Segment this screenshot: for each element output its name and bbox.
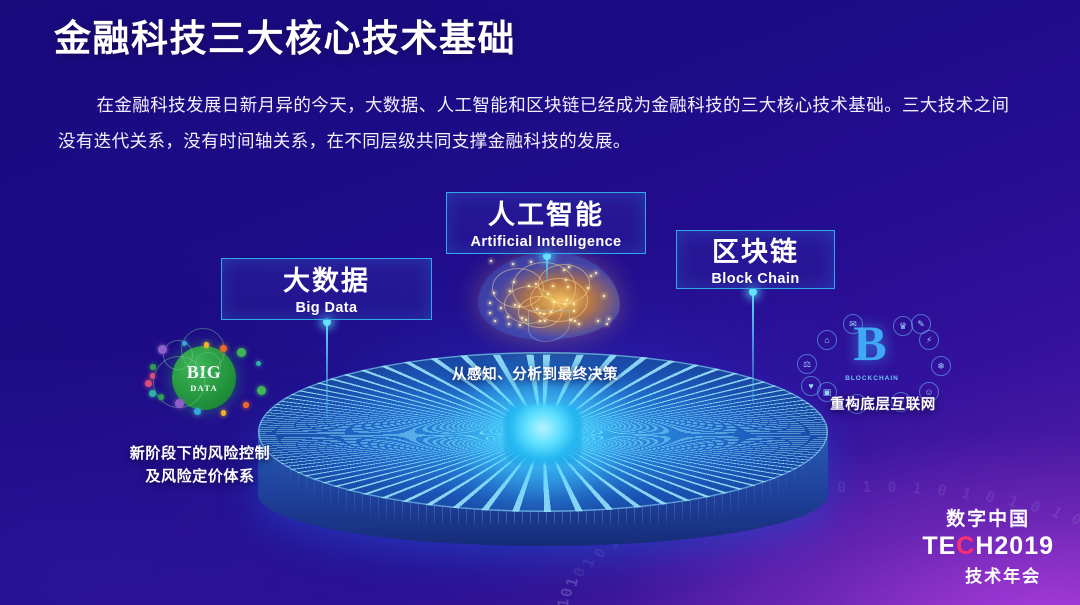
brain-spark [507,316,509,318]
heart-icon: ♥ [801,376,821,396]
brain-spark [489,302,491,304]
intro-paragraph-text: 在金融科技发展日新月异的今天，大数据、人工智能和区块链已经成为金融科技的三大核心… [58,88,1023,160]
brain-spark [513,281,515,283]
card-blockchain-cn: 区块链 [677,237,834,267]
card-ai-en: Artificial Intelligence [447,234,645,250]
big-data-node-icon [158,394,164,400]
brain-spark [608,318,610,320]
platform-disc [258,352,828,582]
brain-spark [547,293,549,295]
event-logo: 数字中国 TECH2019 技术年会 [922,504,1054,587]
big-data-node-icon [175,399,184,408]
big-data-node-icon [204,342,210,348]
big-data-orbit-ring [195,352,221,378]
brain-spark [489,312,491,314]
mail-icon: ✉ [843,314,863,334]
card-blockchain-en: Block Chain [677,271,834,287]
big-data-node-icon [150,373,156,379]
card-bigdata[interactable]: 大数据 Big Data [221,258,432,320]
connector-line-blockchain [752,292,754,402]
binary-digit: 0 [836,478,847,497]
card-ai-cn: 人工智能 [447,200,645,230]
logo-tech-mark: C [956,532,975,560]
brain-spark [564,303,566,305]
card-blockchain[interactable]: 区块链 Block Chain [676,230,835,289]
logo-tech-suffix: H2019 [975,532,1054,560]
intro-paragraph: 在金融科技发展日新月异的今天，大数据、人工智能和区块链已经成为金融科技的三大核心… [58,88,1023,160]
brain-spark [567,286,569,288]
brain-spark [519,324,521,326]
brain-spark [494,320,496,322]
big-data-node-icon [243,402,249,408]
brain-spark [514,304,516,306]
big-data-node-icon [150,364,156,370]
big-data-node-icon [182,341,188,347]
page-title: 金融科技三大核心技术基础 [54,16,516,62]
glowing-brain-icon [478,252,620,340]
brain-spark [578,323,580,325]
binary-digit: 1 [912,479,923,498]
binary-digit: 0 [1067,510,1080,530]
crown-icon: ♛ [893,316,913,336]
brain-spark [573,310,575,312]
binary-digit: 1 [960,484,974,504]
logo-line-1: 数字中国 [922,504,1054,531]
binary-digit: 0 [887,478,897,496]
brain-spark [590,275,592,277]
brain-spark [512,263,514,265]
brain-spark [528,285,530,287]
bank-icon: ⌂ [817,330,837,350]
big-data-node-icon [194,408,201,415]
caption-ai: 从感知、分析到最终决策 [432,364,638,386]
big-data-node-icon [256,361,262,367]
brain-spark [566,299,568,301]
card-ai[interactable]: 人工智能 Artificial Intelligence [446,192,646,254]
blockchain-label: BLOCKCHAIN [839,375,905,382]
connector-line-ai [546,256,548,282]
logo-line-3: 技术年会 [952,562,1054,587]
brain-spark [595,272,597,274]
big-data-node-icon [257,386,266,395]
brain-spark [570,319,572,321]
brain-spark [508,323,510,325]
binary-digit: 0 [557,587,576,599]
caption-blockchain: 重构底层互联网 [798,394,968,416]
big-data-node-icon [220,345,227,352]
scales-icon: ⚖ [797,354,817,374]
caption-bigdata-line2: 及风险定价体系 [100,465,300,488]
caption-bigdata-line1: 新阶段下的风险控制 [100,442,300,465]
binary-digit: 1 [862,478,872,496]
pen-icon: ✎ [911,314,931,334]
logo-line-2: TECH2019 [922,532,1054,561]
logo-tech-prefix: TE [922,532,956,560]
card-bigdata-cn: 大数据 [222,266,431,296]
big-data-node-icon [237,348,246,357]
brain-spark [574,320,576,322]
brain-spark [490,260,492,262]
connector-line-bigdata [326,322,328,418]
brain-spark [552,285,554,287]
big-data-node-icon [221,410,227,416]
slide-canvas: 1010101010101010101010101010101010101010… [0,0,1080,605]
leaf-icon: ❄ [931,356,951,376]
big-data-node-icon [145,380,152,387]
binary-digit: 0 [936,481,948,500]
binary-digit: 1 [554,598,573,605]
caption-bigdata: 新阶段下的风险控制 及风险定价体系 [100,442,300,489]
big-data-network-icon: BIG DATA [133,322,279,436]
card-bigdata-en: Big Data [222,300,431,316]
brain-spark [539,312,541,314]
big-data-node-icon [149,390,156,397]
